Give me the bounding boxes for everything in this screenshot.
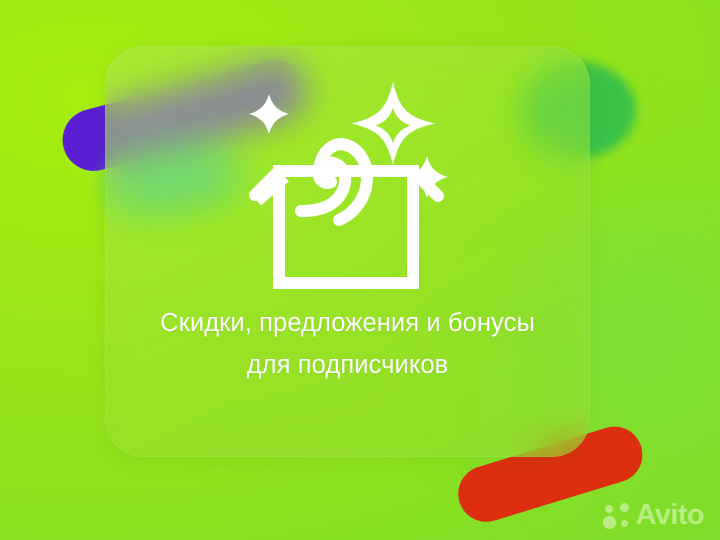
avito-watermark: Avito	[603, 501, 704, 530]
headline: Скидки, предложения и бонусы для подписч…	[105, 302, 590, 386]
avito-wordmark: Avito	[636, 501, 704, 530]
gift-box-sparkles-icon	[241, 80, 455, 292]
avito-logo-icon	[603, 503, 629, 529]
frosted-glass-card: Скидки, предложения и бонусы для подписч…	[105, 46, 590, 457]
banner-canvas: Скидки, предложения и бонусы для подписч…	[0, 0, 720, 540]
headline-line-2: для подписчиков	[105, 344, 590, 386]
headline-line-1: Скидки, предложения и бонусы	[105, 302, 590, 344]
sparkle-small-left-icon	[249, 94, 289, 134]
